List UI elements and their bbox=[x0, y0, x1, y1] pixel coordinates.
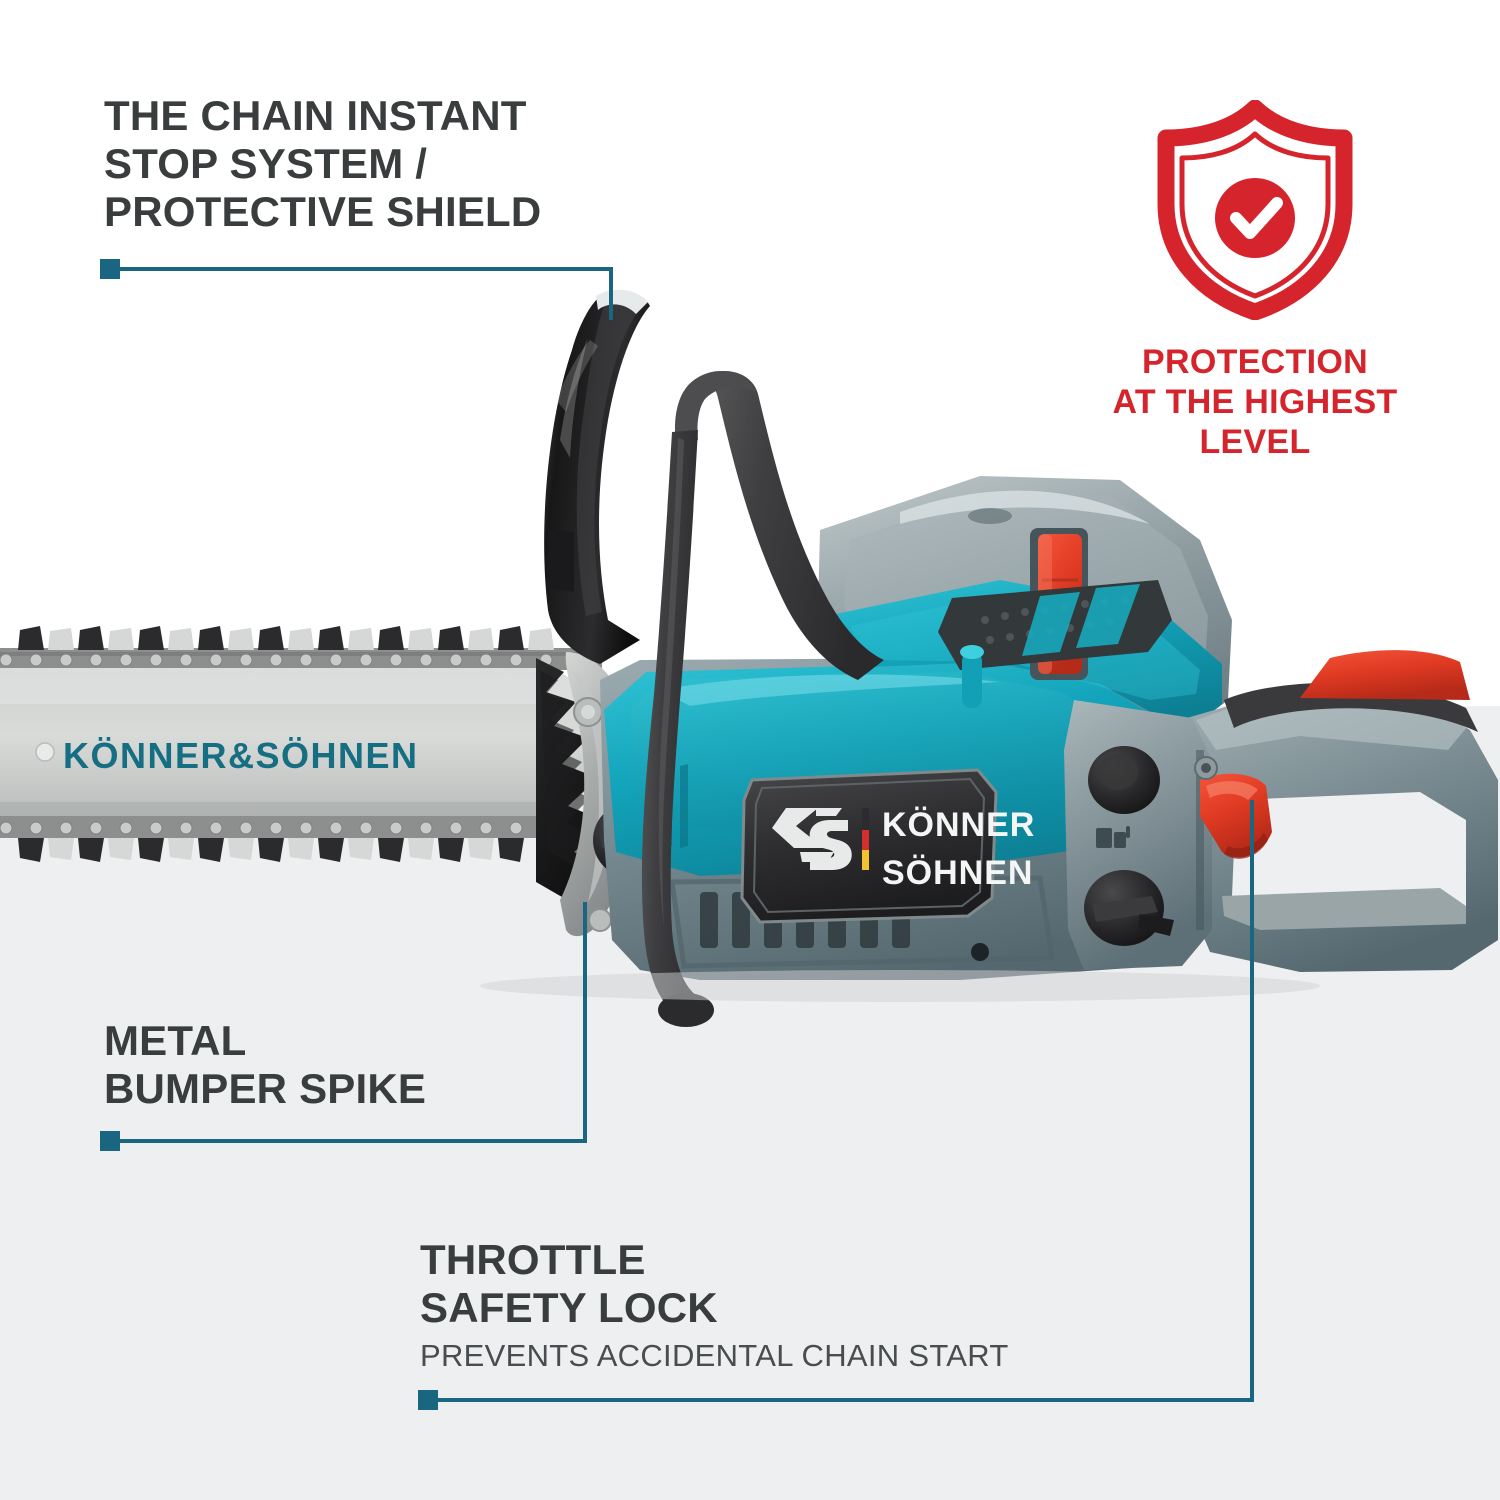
chain-brake-guard bbox=[544, 290, 650, 664]
infographic-canvas: KÖNNER&SÖHNEN bbox=[0, 0, 1500, 1500]
shield-check-icon bbox=[1140, 100, 1370, 320]
engine-badge: KÖNNER SÖHNEN bbox=[742, 770, 1035, 922]
bar-brand-label: KÖNNER&SÖHNEN bbox=[36, 735, 419, 776]
decomp-pin bbox=[960, 645, 984, 708]
leader-line-chain-brake-h bbox=[110, 267, 613, 271]
leader-line-throttle-lock-v bbox=[1250, 800, 1254, 1400]
leader-line-chain-brake-v bbox=[609, 267, 613, 320]
chain-top bbox=[0, 626, 602, 670]
shield-icon-wrapper bbox=[1090, 100, 1420, 320]
badge-line-2: SÖHNEN bbox=[882, 854, 1033, 892]
callout-throttle-lock-subtitle: PREVENTS ACCIDENTAL CHAIN START bbox=[420, 1338, 1140, 1374]
chain-bottom bbox=[0, 816, 590, 862]
callout-bumper-spike-title: METAL BUMPER SPIKE bbox=[104, 1017, 664, 1113]
bar-brand-text: KÖNNER&SÖHNEN bbox=[63, 735, 419, 776]
callout-chain-brake: THE CHAIN INSTANT STOP SYSTEM / PROTECTI… bbox=[104, 92, 724, 236]
callout-throttle-lock: THROTTLE SAFETY LOCK PREVENTS ACCIDENTAL… bbox=[420, 1236, 1140, 1373]
flag-divider bbox=[862, 808, 869, 870]
protection-badge-text: PROTECTION AT THE HIGHEST LEVEL bbox=[1090, 342, 1420, 462]
protection-badge: PROTECTION AT THE HIGHEST LEVEL bbox=[1090, 100, 1420, 462]
rear-panel bbox=[1064, 700, 1212, 970]
callout-bumper-spike: METAL BUMPER SPIKE bbox=[104, 1017, 664, 1113]
lock-pivot-screw bbox=[1195, 757, 1217, 779]
callout-chain-brake-title: THE CHAIN INSTANT STOP SYSTEM / PROTECTI… bbox=[104, 92, 724, 236]
badge-line-1: KÖNNER bbox=[882, 806, 1035, 844]
callout-throttle-lock-title: THROTTLE SAFETY LOCK bbox=[420, 1236, 1140, 1332]
leader-line-throttle-lock-h bbox=[428, 1398, 1254, 1402]
leader-line-bumper-spike-h bbox=[110, 1139, 587, 1143]
